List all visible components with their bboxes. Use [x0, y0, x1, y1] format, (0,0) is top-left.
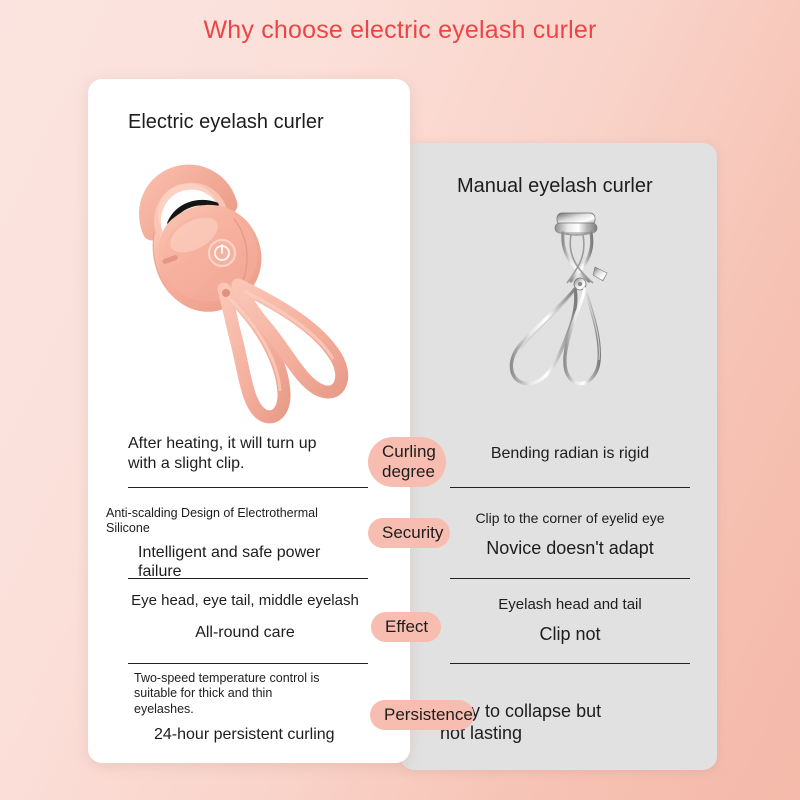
manual-divider-1 — [450, 578, 690, 579]
electric-row-2-main: All-round care — [100, 623, 390, 643]
manual-divider-2 — [450, 663, 690, 664]
electric-row-3-main: 24-hour persistent curling — [134, 725, 416, 745]
manual-row-2-main: Clip not — [440, 623, 700, 645]
electric-divider-2 — [128, 663, 368, 664]
badge-security: Security — [368, 518, 450, 548]
electric-row-1: Anti-scalding Design of Electrothermal S… — [106, 506, 388, 582]
manual-row-2: Eyelash head and tail Clip not — [440, 596, 700, 645]
electric-row-0-main: After heating, it will turn up with a sl… — [106, 434, 388, 474]
manual-card-heading: Manual eyelash curler — [457, 175, 653, 198]
manual-row-3-main: Easy to collapse but not lasting — [440, 700, 700, 745]
electric-row-1-caption: Anti-scalding Design of Electrothermal S… — [106, 506, 388, 537]
manual-row-0-main: Bending radian is rigid — [440, 444, 700, 464]
manual-row-2-caption: Eyelash head and tail — [440, 596, 700, 615]
electric-row-1-main: Intelligent and safe power failure — [106, 543, 388, 583]
manual-row-0: Bending radian is rigid — [440, 444, 700, 464]
electric-curler-card: Electric eyelash curler — [88, 79, 410, 763]
electric-divider-0 — [128, 487, 368, 488]
electric-eyelash-curler-image — [106, 161, 396, 426]
manual-row-1: Clip to the corner of eyelid eye Novice … — [440, 510, 700, 560]
manual-row-3: Easy to collapse but not lasting — [440, 700, 700, 745]
badge-persistence: Persistence — [370, 700, 474, 730]
manual-row-1-main: Novice doesn't adapt — [440, 537, 700, 559]
manual-divider-0 — [450, 487, 690, 488]
electric-divider-1 — [128, 578, 368, 579]
infographic-page: Why choose electric eyelash curler Manua… — [0, 0, 800, 800]
electric-row-2-caption: Eye head, eye tail, middle eyelash — [100, 592, 390, 611]
badge-effect: Effect — [371, 612, 441, 642]
badge-curling-degree: Curling degree — [368, 437, 446, 487]
electric-row-0: After heating, it will turn up with a sl… — [106, 434, 388, 474]
electric-row-2: Eye head, eye tail, middle eyelash All-r… — [100, 592, 390, 642]
electric-card-heading: Electric eyelash curler — [128, 111, 324, 134]
page-title: Why choose electric eyelash curler — [0, 16, 800, 45]
manual-eyelash-curler-image — [475, 203, 650, 408]
manual-row-1-caption: Clip to the corner of eyelid eye — [440, 510, 700, 527]
